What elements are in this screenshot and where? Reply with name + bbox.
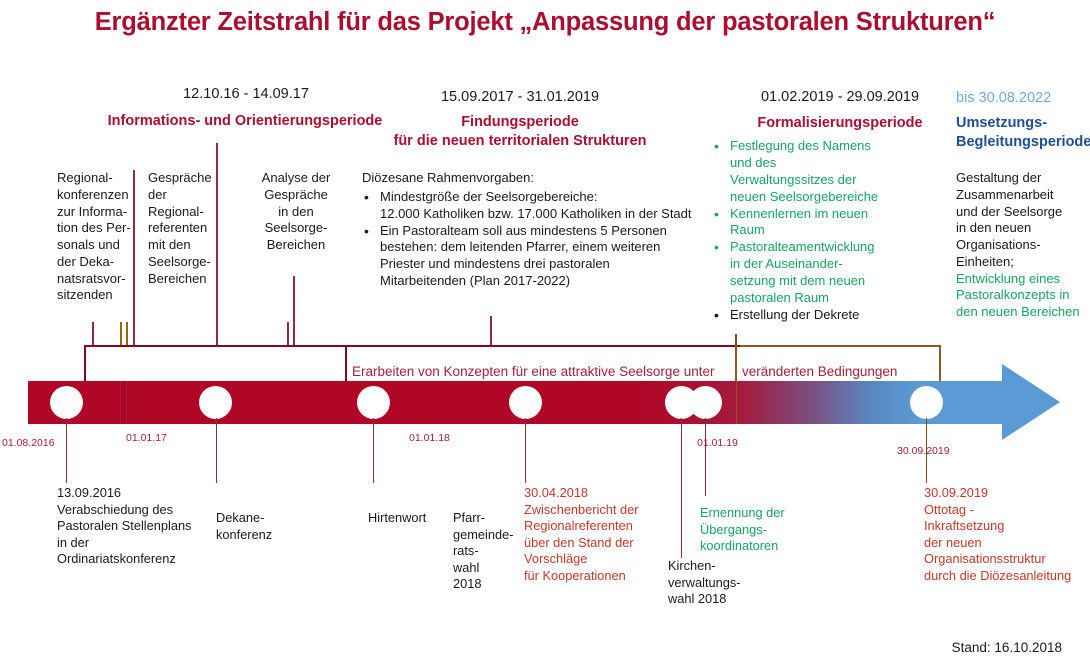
bottom-label-dekanekonferenz: Dekane- konferenz: [216, 510, 306, 543]
connector-tick-gespraeche: [133, 170, 135, 345]
period-4-range: bis 30.08.2022: [956, 90, 1086, 106]
period-2-range: 15.09.2017 - 31.01.2019: [370, 89, 670, 105]
column-gespraeche-regionalreferenten: Gespräche der Regional- referenten mit d…: [148, 170, 232, 287]
period-1-range: 12.10.16 - 14.09.17: [86, 86, 406, 102]
umsetzung-part1: Gestaltung der Zusammenarbeit und der Se…: [956, 170, 1090, 271]
node-leader-1: [66, 418, 67, 483]
period-3-range: 01.02.2019 - 29.09.2019: [700, 89, 980, 105]
period-2-name-line1: Findungsperiode: [350, 113, 690, 132]
list-item: Festlegung des Namens und des Verwaltung…: [712, 138, 940, 206]
list-item: Kennenlernen im neuen Raum: [712, 206, 940, 240]
timeline-node: [199, 386, 232, 419]
node-leader-3: [373, 418, 374, 483]
period-4-name-line1: Umsetzungs-: [956, 114, 1090, 133]
bracket-horizontal-right: [740, 345, 940, 347]
connector-tick-gold-2: [126, 322, 128, 346]
bottom-label-ottotag: 30.09.2019 Ottotag - Inkraftsetzung der …: [924, 485, 1090, 584]
node-leader-2: [216, 418, 217, 483]
column-formalisierung-list: Festlegung des Namens und des Verwaltung…: [712, 138, 940, 324]
bar-separator-3: [736, 381, 737, 424]
period-2-name-line2: für die neuen territorialen Strukturen: [350, 132, 690, 151]
column-regionalkonferenzen: Regional- konferenzen zur Informa- tion …: [57, 170, 145, 304]
bracket-drop-mid: [735, 345, 737, 381]
node-leader-6: [705, 418, 706, 496]
period-4-name-line2: Begleitungsperiode: [956, 133, 1090, 152]
rahmenvorgaben-list: Mindestgröße der Seelsorgebereiche: 12.0…: [362, 189, 714, 290]
bottom-label-verabschiedung: 13.09.2016 Verabschiedung des Pastoralen…: [57, 485, 217, 568]
timeline-diagram: Ergänzter Zeitstrahl für das Projekt „An…: [0, 0, 1090, 668]
bar-date-label: 01.01.18: [409, 432, 450, 444]
banner-text-left: Erarbeiten von Konzepten für eine attrak…: [352, 364, 714, 379]
bottom-label-kirchenverwaltungswahl: Kirchen- verwaltungs- wahl 2018: [668, 558, 778, 608]
bottom-label-zwischenbericht: 30.04.2018 Zwischenbericht der Regionalr…: [524, 485, 684, 584]
list-item: Pastoralteamentwicklung in der Auseinand…: [712, 239, 940, 307]
bar-separator-2: [126, 381, 127, 424]
column-umsetzung-begleitung: Gestaltung der Zusammenarbeit und der Se…: [956, 170, 1090, 321]
list-item: Erstellung der Dekrete: [712, 307, 940, 324]
timeline-node: [509, 386, 542, 419]
timeline-node: [50, 386, 83, 419]
bar-date-label: 01.01.19: [697, 437, 738, 449]
timeline-node: [689, 386, 722, 419]
connector-tick-regional: [92, 322, 94, 346]
timeline-node: [357, 386, 390, 419]
bar-date-label: 30.09.2019: [897, 445, 950, 457]
connector-tick-findung-left: [287, 322, 289, 346]
footer-stand-date: Stand: 16.10.2018: [952, 640, 1062, 655]
page-title: Ergänzter Zeitstrahl für das Projekt „An…: [0, 8, 1090, 37]
bar-separator-1: [120, 381, 121, 424]
node-leader-4: [525, 418, 526, 483]
list-item: Ein Pastoralteam soll aus mindestens 5 P…: [362, 223, 714, 291]
column-analyse-gespraeche: Analyse der Gespräche in den Seelsorge- …: [240, 170, 352, 254]
list-item: Mindestgröße der Seelsorgebereiche: 12.0…: [362, 189, 714, 223]
umsetzung-part2: Entwicklung eines Pastoralkonzepts in de…: [956, 271, 1090, 321]
bracket-drop-right-end: [939, 345, 941, 381]
bracket-drop-left-end: [84, 345, 86, 381]
connector-tick-informations: [216, 143, 218, 345]
bracket-drop-banner-start: [345, 345, 347, 381]
bottom-label-pfarrgemeinderatswahl: Pfarr- gemeinde- rats- wahl 2018: [453, 510, 517, 593]
bottom-label-hirtenwort: Hirtenwort: [368, 510, 448, 527]
column-dioezesane-rahmenvorgaben: Diözesane Rahmenvorgaben: Mindestgröße d…: [362, 170, 714, 290]
connector-tick-gold-1: [120, 322, 122, 346]
connector-tick-analyse: [293, 276, 295, 345]
rahmenvorgaben-intro: Diözesane Rahmenvorgaben:: [362, 170, 714, 187]
bar-date-label: 01.01.17: [126, 432, 167, 444]
connector-tick-findung-right: [490, 316, 492, 346]
period-4-name: Umsetzungs- Begleitungsperiode: [956, 114, 1090, 152]
banner-text-right: veränderten Bedingungen: [742, 364, 897, 379]
bracket-horizontal-left: [84, 345, 740, 347]
timeline-node: [910, 386, 943, 419]
bottom-label-ernennung: Ernennung der Übergangs- koordinatoren: [700, 505, 820, 555]
formalisierung-list: Festlegung des Namens und des Verwaltung…: [712, 138, 940, 324]
period-2-name: Findungsperiode für die neuen territoria…: [350, 113, 690, 151]
bar-date-label: 01.08.2016: [2, 437, 55, 449]
period-3-name: Formalisierungsperiode: [700, 114, 980, 133]
